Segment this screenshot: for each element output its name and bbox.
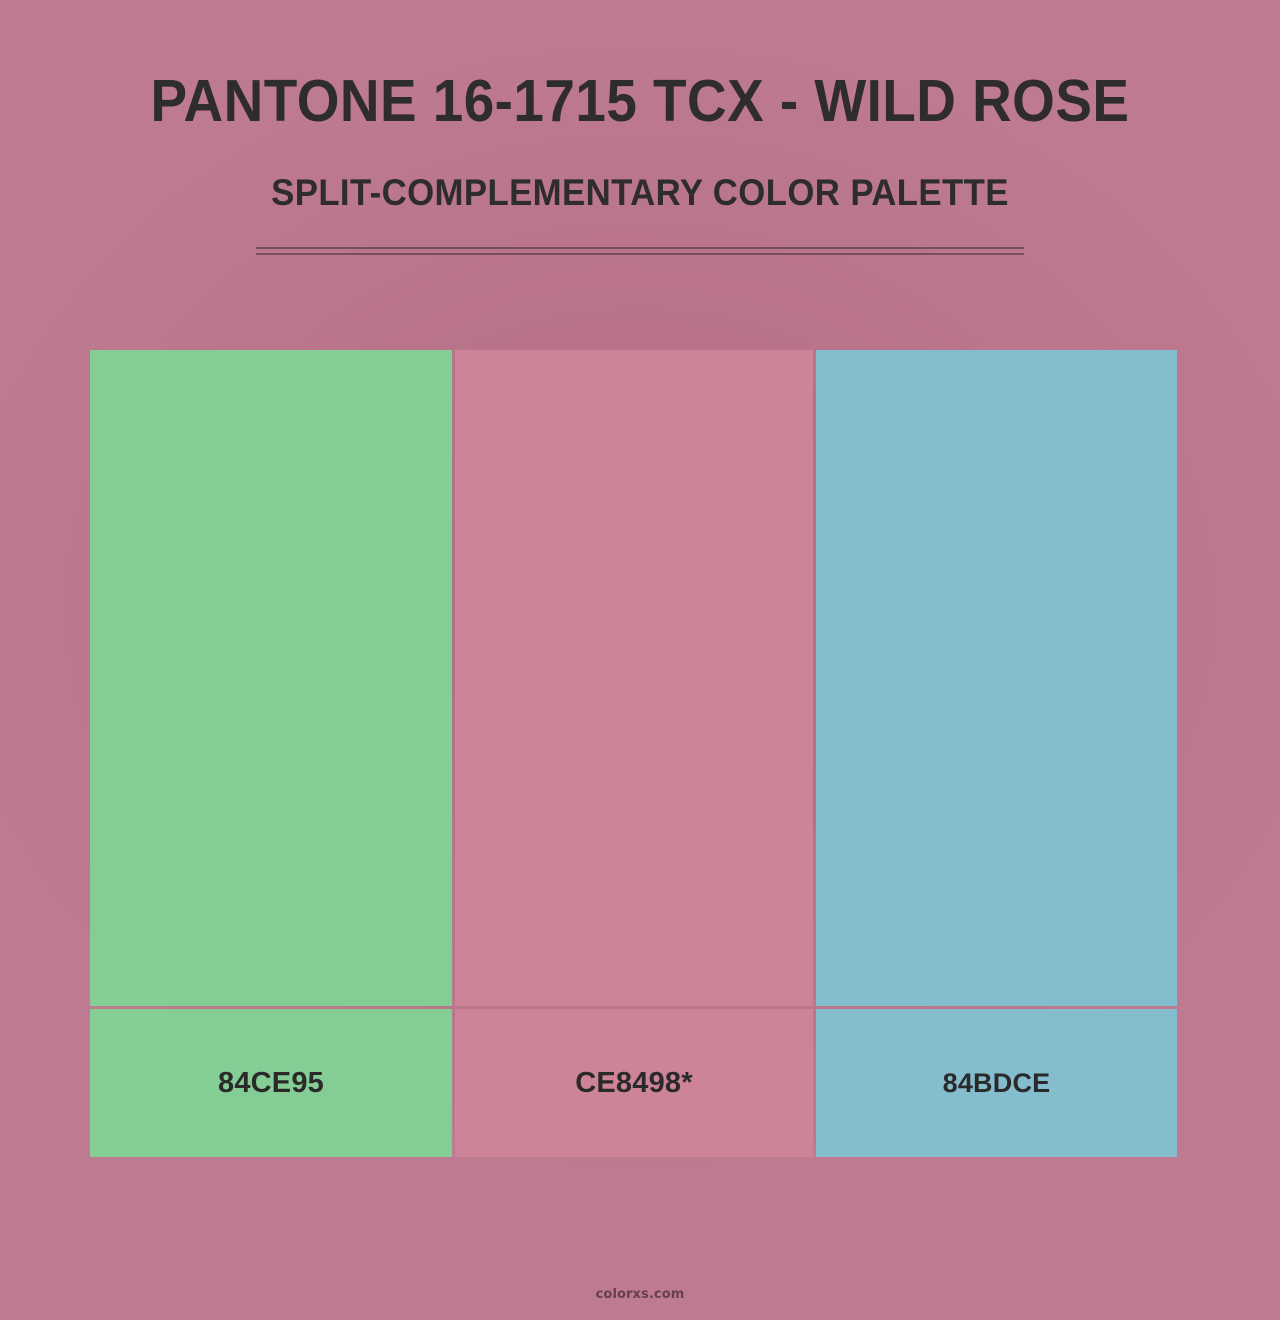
color-swatch[interactable] xyxy=(455,350,813,1006)
page-title: PANTONE 16-1715 TCX - WILD ROSE xyxy=(45,72,1235,131)
color-swatch[interactable] xyxy=(816,350,1177,1006)
site-credit: colorxs.com xyxy=(596,1287,685,1302)
divider-line-bottom xyxy=(256,253,1024,255)
header: PANTONE 16-1715 TCX - WILD ROSE SPLIT-CO… xyxy=(0,0,1280,256)
palette-page: PANTONE 16-1715 TCX - WILD ROSE SPLIT-CO… xyxy=(0,0,1280,1320)
color-label-cell[interactable]: 84CE95 xyxy=(90,1009,452,1157)
color-hex-label: CE8498* xyxy=(575,1067,693,1100)
color-palette: 84CE95 CE8498* 84BDCE xyxy=(90,350,1177,1160)
color-hex-label: 84CE95 xyxy=(218,1067,324,1100)
color-hex-label: 84BDCE xyxy=(943,1068,1051,1099)
color-label-cell[interactable]: CE8498* xyxy=(455,1009,813,1157)
color-swatch[interactable] xyxy=(90,350,452,1006)
page-subtitle: SPLIT-COMPLEMENTARY COLOR PALETTE xyxy=(38,174,1241,211)
swatch-row xyxy=(90,350,1177,1006)
divider xyxy=(256,247,1024,256)
divider-line-top xyxy=(256,247,1024,249)
footer: colorxs.com xyxy=(0,1285,1280,1303)
label-row: 84CE95 CE8498* 84BDCE xyxy=(90,1009,1177,1157)
color-label-cell[interactable]: 84BDCE xyxy=(816,1009,1177,1157)
